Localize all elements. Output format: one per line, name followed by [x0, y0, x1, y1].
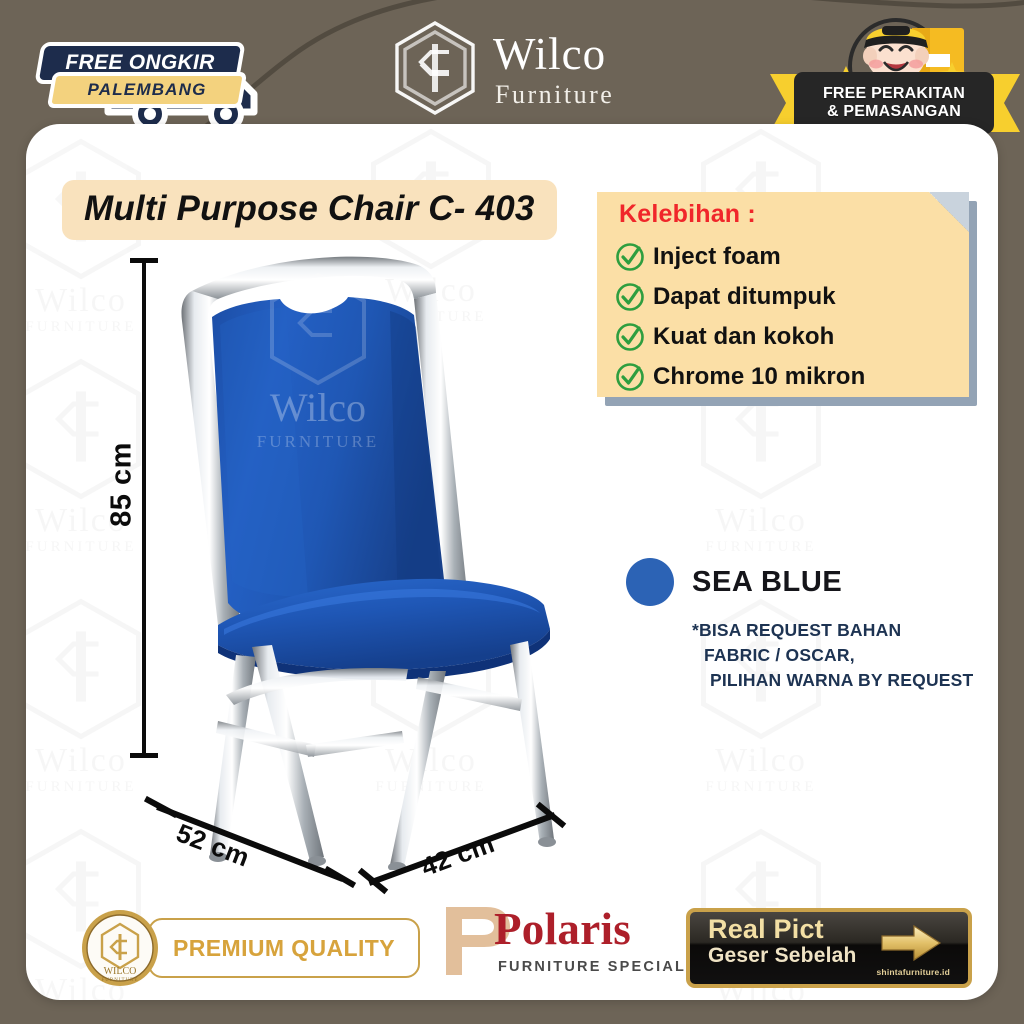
feature-item: Inject foam: [615, 237, 865, 277]
color-note-line: FABRIC / OSCAR,: [704, 643, 996, 668]
height-line: [142, 258, 146, 758]
premium-quality-badge: PREMIUM QUALITY WILCO FURNITURE: [70, 908, 420, 986]
product-title: Multi Purpose Chair C- 403: [84, 189, 535, 228]
color-note-line: *BISA REQUEST BAHAN: [692, 618, 996, 643]
watermark-text-1: Wilco: [686, 744, 836, 778]
partner-subtitle: FURNITURE SPECIALIST: [498, 959, 715, 975]
watermark-text-1: Wilco: [686, 504, 836, 538]
premium-quality-pill: PREMIUM QUALITY: [148, 918, 420, 978]
watermark-text-2: FURNITURE: [686, 780, 836, 795]
wilco-gold-seal-icon: WILCO FURNITURE: [80, 908, 160, 988]
check-circle-icon: [615, 282, 645, 312]
brand-tagline: Furniture: [495, 82, 614, 108]
height-cap-bottom: [130, 753, 158, 758]
check-circle-icon: [615, 322, 645, 352]
color-option-block: SEA BLUE *BISA REQUEST BAHAN FABRIC / OS…: [626, 558, 996, 693]
arrow-right-icon: [880, 924, 942, 962]
color-row: SEA BLUE: [626, 558, 996, 606]
features-note-card: Kelebihan : Inject foam Dapat ditumpuk: [597, 192, 969, 397]
feature-item: Dapat ditumpuk: [615, 277, 865, 317]
brand-logo: Wilco Furniture: [385, 16, 660, 124]
color-swatch: [626, 558, 674, 606]
free-assembly-line2: & PEMASANGAN: [827, 103, 961, 121]
note-folded-corner: [929, 192, 969, 232]
feature-item: Chrome 10 mikron: [615, 357, 865, 397]
feature-label: Chrome 10 mikron: [653, 363, 865, 391]
brand-name: Wilco: [493, 32, 606, 77]
feature-label: Inject foam: [653, 243, 781, 271]
real-pict-line1: Real Pict: [708, 914, 824, 945]
real-pict-line2: Geser Sebelah: [708, 944, 857, 968]
partner-name: Polaris: [494, 907, 631, 952]
product-ad-canvas: FREE ONGKIR PALEMBANG Wilco Furniture: [0, 0, 1024, 1024]
seal-brand: WILCO: [104, 966, 137, 977]
features-heading: Kelebihan :: [619, 200, 756, 229]
check-circle-icon: [615, 242, 645, 272]
feature-item: Kuat dan kokoh: [615, 317, 865, 357]
free-shipping-badge: FREE ONGKIR PALEMBANG: [10, 28, 290, 138]
free-shipping-line2: PALEMBANG: [54, 76, 240, 104]
feature-label: Kuat dan kokoh: [653, 323, 834, 351]
check-circle-icon: [615, 362, 645, 392]
color-note-line: PILIHAN WARNA BY REQUEST: [710, 668, 996, 693]
watermark-text-2: FURNITURE: [26, 780, 156, 795]
wilco-hexagon-logo-icon: [385, 18, 485, 118]
height-label: 85 cm: [106, 425, 139, 545]
product-photo-chair: Wilco FURNITURE: [140, 225, 590, 870]
real-pict-watermark: shintafurniture.id: [877, 967, 951, 977]
watermark-text-2: FURNITURE: [686, 540, 836, 555]
svg-text:Wilco: Wilco: [270, 385, 366, 430]
seal-sub: FURNITURE: [101, 978, 138, 983]
svg-text:FURNITURE: FURNITURE: [257, 432, 379, 451]
color-name: SEA BLUE: [692, 566, 842, 599]
free-assembly-line1: FREE PERAKITAN: [823, 85, 965, 103]
free-shipping-line2-box: PALEMBANG: [47, 72, 247, 108]
premium-quality-label: PREMIUM QUALITY: [173, 935, 395, 962]
partner-logo-polaris: Polaris FURNITURE SPECIALIST: [432, 903, 668, 985]
features-list: Inject foam Dapat ditumpuk Kuat dan koko…: [615, 237, 865, 397]
real-pict-badge: Real Pict Geser Sebelah shintafurniture.…: [686, 908, 964, 980]
color-notes: *BISA REQUEST BAHAN FABRIC / OSCAR, PILI…: [692, 618, 996, 693]
feature-label: Dapat ditumpuk: [653, 283, 836, 311]
height-dimension: 85 cm: [98, 258, 158, 758]
